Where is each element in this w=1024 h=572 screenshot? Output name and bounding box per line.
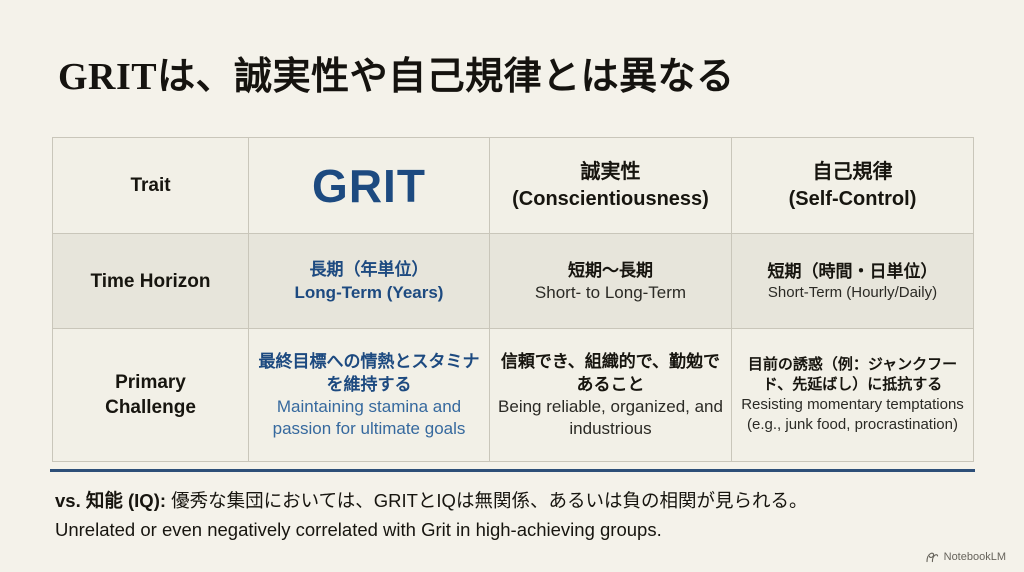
notebooklm-watermark: NotebookLM [926, 551, 1006, 563]
cell-time-horizon-conscientiousness: 短期〜長期 Short- to Long-Term [490, 234, 732, 329]
footer-note: vs. 知能 (IQ): 優秀な集団においては、GRITとIQは無関係、あるいは… [55, 486, 985, 544]
footer-lead: vs. 知能 (IQ): [55, 490, 166, 511]
cell-en-text: Being reliable, organized, and industrio… [498, 396, 723, 440]
header-label-conscientiousness-en: (Conscientiousness) [498, 186, 723, 213]
footer-japanese: 優秀な集団においては、GRITとIQは無関係、あるいは負の相関が見られる。 [166, 490, 807, 511]
header-label-trait: Trait [61, 173, 240, 198]
row-label-text-line1: Primary [61, 370, 240, 395]
header-label-conscientiousness-jp: 誠実性 [498, 159, 723, 186]
cell-en-text: Maintaining stamina and passion for ulti… [257, 396, 481, 440]
notebooklm-label: NotebookLM [944, 551, 1006, 563]
cell-en-text: Short-Term (Hourly/Daily) [740, 283, 965, 303]
cell-en-text: Resisting momentary temptations (e.g., j… [740, 395, 965, 435]
cell-jp-text: 目前の誘惑（例：ジャンクフード、先延ばし）に抵抗する [740, 355, 965, 395]
cell-jp-text: 短期（時間・日単位） [740, 260, 965, 283]
header-label-self-control-jp: 自己規律 [740, 159, 965, 186]
table-row-time-horizon: Time Horizon 長期（年単位） Long-Term (Years) 短… [53, 234, 974, 329]
header-label-self-control-en: (Self-Control) [740, 186, 965, 213]
header-cell-self-control: 自己規律 (Self-Control) [732, 138, 974, 234]
comparison-table: Trait GRIT 誠実性 (Conscientiousness) 自己規律 … [52, 137, 974, 462]
row-label-time-horizon: Time Horizon [53, 234, 249, 329]
header-label-grit: GRIT [257, 161, 481, 211]
cell-jp-text: 長期（年単位） [257, 258, 481, 281]
cell-primary-challenge-self-control: 目前の誘惑（例：ジャンクフード、先延ばし）に抵抗する Resisting mom… [732, 329, 974, 462]
header-cell-grit: GRIT [249, 138, 490, 234]
row-label-text-line2: Challenge [61, 395, 240, 420]
cell-jp-text: 信頼でき、組織的で、勤勉であること [498, 350, 723, 396]
cell-en-text: Long-Term (Years) [257, 281, 481, 304]
row-label-text: Time Horizon [61, 269, 240, 294]
notebooklm-spiral-icon [926, 552, 939, 563]
table-row-primary-challenge: Primary Challenge 最終目標への情熱とスタミナを維持する Mai… [53, 329, 974, 462]
header-cell-conscientiousness: 誠実性 (Conscientiousness) [490, 138, 732, 234]
cell-primary-challenge-grit: 最終目標への情熱とスタミナを維持する Maintaining stamina a… [249, 329, 490, 462]
slide-canvas: GRITは、誠実性や自己規律とは異なる Trait GRIT 誠実性 (Cons… [0, 0, 1024, 572]
page-title: GRITは、誠実性や自己規律とは異なる [58, 54, 958, 100]
cell-jp-text: 最終目標への情熱とスタミナを維持する [257, 350, 481, 396]
cell-primary-challenge-conscientiousness: 信頼でき、組織的で、勤勉であること Being reliable, organi… [490, 329, 732, 462]
cell-jp-text: 短期〜長期 [498, 259, 723, 282]
cell-en-text: Short- to Long-Term [498, 282, 723, 304]
section-divider [50, 469, 975, 472]
row-label-primary-challenge: Primary Challenge [53, 329, 249, 462]
cell-time-horizon-grit: 長期（年単位） Long-Term (Years) [249, 234, 490, 329]
footer-english: Unrelated or even negatively correlated … [55, 515, 985, 544]
cell-time-horizon-self-control: 短期（時間・日単位） Short-Term (Hourly/Daily) [732, 234, 974, 329]
header-cell-trait: Trait [53, 138, 249, 234]
table-header-row: Trait GRIT 誠実性 (Conscientiousness) 自己規律 … [53, 138, 974, 234]
